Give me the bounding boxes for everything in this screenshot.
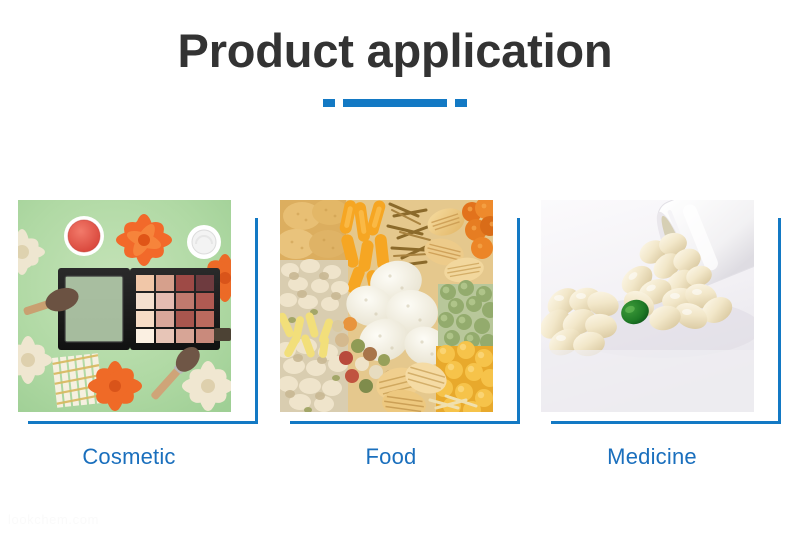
- watermark: lookchem.com: [8, 512, 99, 527]
- food-photo-art: [280, 200, 493, 412]
- medicine-photo-art: [541, 200, 754, 412]
- cosmetic-photo-art: [18, 200, 231, 412]
- food-photo: [280, 200, 493, 412]
- medicine-photo: [541, 200, 754, 412]
- application-card-food[interactable]: Food: [280, 190, 525, 490]
- card-label-food: Food: [280, 444, 502, 470]
- application-card-medicine[interactable]: Medicine: [541, 190, 786, 490]
- divider-right-dot: [455, 99, 467, 107]
- cosmetic-photo: [18, 200, 231, 412]
- card-label-cosmetic: Cosmetic: [18, 444, 240, 470]
- divider-bar: [343, 99, 447, 107]
- page-header: Product application: [0, 0, 790, 107]
- divider-left-dot: [323, 99, 335, 107]
- application-card-cosmetic[interactable]: Cosmetic: [18, 190, 263, 490]
- page-title: Product application: [0, 26, 790, 75]
- card-label-medicine: Medicine: [541, 444, 763, 470]
- title-divider: [0, 99, 790, 107]
- application-card-row: Cosmetic: [0, 190, 790, 490]
